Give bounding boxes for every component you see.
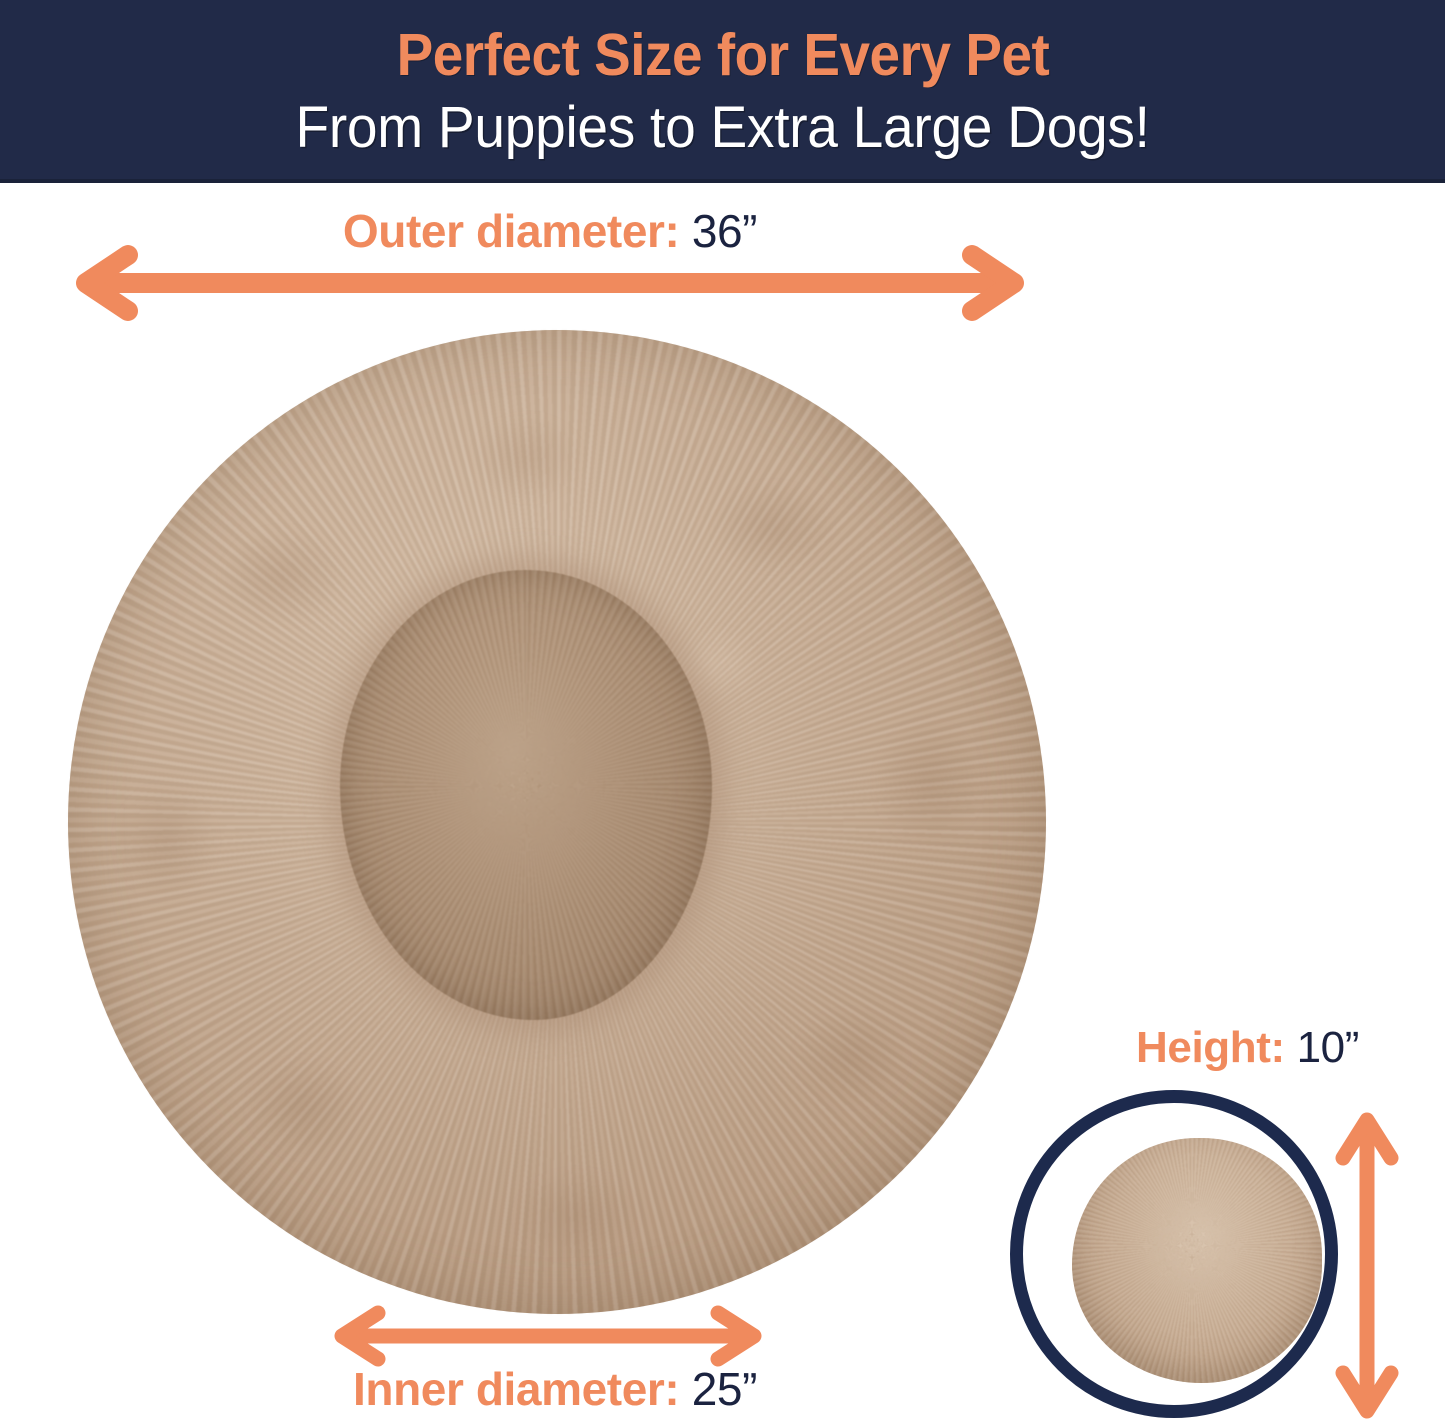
pet-bed-side-view xyxy=(1072,1138,1322,1383)
inner-diameter-arrow xyxy=(330,1310,766,1362)
height-inset-circle xyxy=(1010,1090,1342,1421)
inner-diameter-label: Inner diameter: 25” xyxy=(0,1366,1110,1412)
height-label-text: Height: xyxy=(1136,1023,1285,1072)
inner-diameter-label-text: Inner diameter: xyxy=(353,1363,679,1415)
outer-diameter-label-text: Outer diameter: xyxy=(343,205,680,257)
height-value: 10” xyxy=(1297,1023,1359,1072)
outer-diameter-value: 36” xyxy=(692,205,757,257)
infographic-canvas: Perfect Size for Every Pet From Puppies … xyxy=(0,0,1445,1421)
header-banner: Perfect Size for Every Pet From Puppies … xyxy=(0,0,1445,183)
outer-diameter-label: Outer diameter: 36” xyxy=(0,208,1100,254)
height-label: Height: 10” xyxy=(1050,1026,1445,1070)
pet-bed-top-view xyxy=(68,330,1046,1314)
page-title: Perfect Size for Every Pet xyxy=(396,26,1049,85)
outer-diameter-arrow xyxy=(70,252,1030,314)
height-arrow xyxy=(1335,1110,1399,1421)
page-subtitle: From Puppies to Extra Large Dogs! xyxy=(295,99,1149,157)
inner-diameter-value: 25” xyxy=(692,1363,757,1415)
